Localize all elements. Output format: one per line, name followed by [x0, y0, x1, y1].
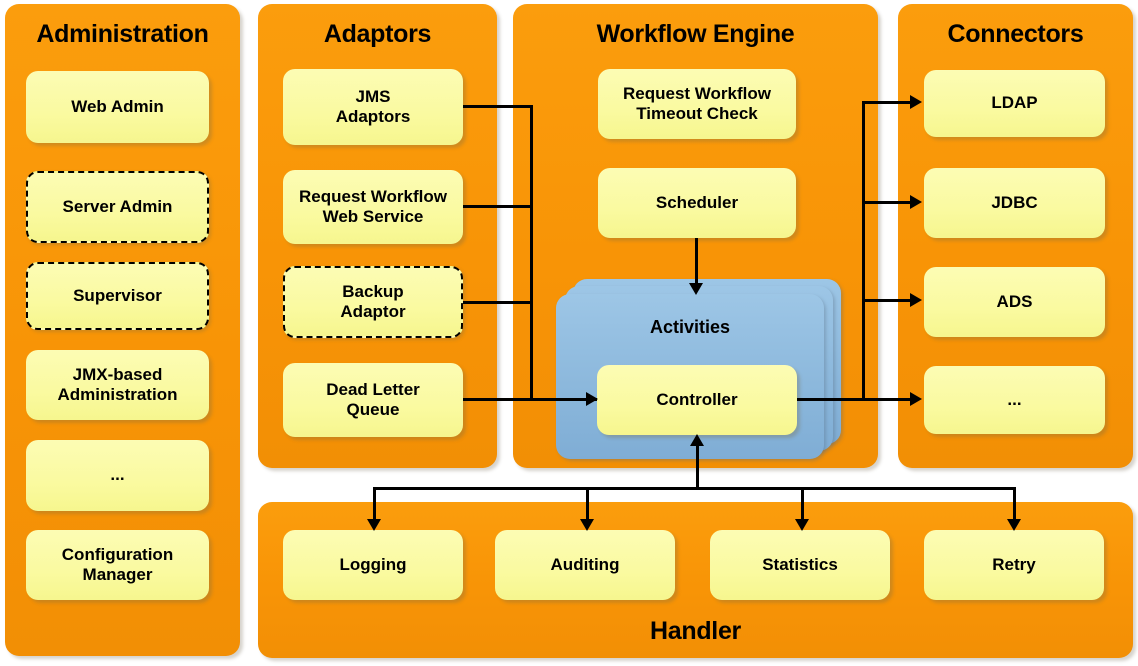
node-scheduler[interactable]: Scheduler: [598, 168, 796, 238]
wire-handler-bus-to-controller: [696, 443, 699, 489]
arrow-into-connectors-more: [910, 392, 922, 406]
node-label: Statistics: [762, 555, 838, 575]
panel-connectors-title: Connectors: [898, 20, 1133, 49]
wire-bus-to-statistics: [801, 487, 804, 522]
node-label: Backup Adaptor: [340, 282, 405, 322]
wire-bus-to-connectors-more: [862, 398, 912, 401]
node-request-workflow-web-service[interactable]: Request Workflow Web Service: [283, 170, 463, 244]
node-label: Supervisor: [73, 286, 162, 306]
wire-backup-to-bus: [463, 301, 533, 304]
wire-right-bus-vertical: [862, 101, 865, 399]
wire-bus-to-jdbc: [862, 201, 912, 204]
node-label: Scheduler: [656, 193, 738, 213]
panel-administration-title: Administration: [5, 20, 240, 49]
node-ads[interactable]: ADS: [924, 267, 1105, 337]
node-label: JMX-based Administration: [58, 365, 178, 405]
node-label: JMS Adaptors: [336, 87, 411, 127]
node-jdbc[interactable]: JDBC: [924, 168, 1105, 238]
node-label: JDBC: [991, 193, 1037, 213]
node-label: ...: [110, 465, 124, 485]
node-label: ...: [1007, 390, 1021, 410]
wire-bus-to-logging: [373, 487, 376, 522]
node-server-admin[interactable]: Server Admin: [26, 171, 209, 243]
node-connectors-more[interactable]: ...: [924, 366, 1105, 434]
wire-bus-to-auditing: [586, 487, 589, 522]
panel-adaptors-title: Adaptors: [258, 20, 497, 49]
node-statistics[interactable]: Statistics: [710, 530, 890, 600]
node-ldap[interactable]: LDAP: [924, 70, 1105, 137]
wire-rwws-to-bus: [463, 205, 533, 208]
node-dead-letter-queue[interactable]: Dead Letter Queue: [283, 363, 463, 437]
panel-workflow-engine-title: Workflow Engine: [513, 20, 878, 49]
node-retry[interactable]: Retry: [924, 530, 1104, 600]
activities-label: Activities: [556, 317, 824, 338]
wire-bus-to-retry: [1013, 487, 1016, 522]
node-controller[interactable]: Controller: [597, 365, 797, 435]
node-label: ADS: [997, 292, 1033, 312]
node-label: LDAP: [991, 93, 1037, 113]
node-supervisor[interactable]: Supervisor: [26, 262, 209, 330]
node-web-admin[interactable]: Web Admin: [26, 71, 209, 143]
wire-controller-to-right-bus: [797, 398, 865, 401]
node-label: Auditing: [551, 555, 620, 575]
arrow-into-controller-left: [586, 392, 598, 406]
architecture-diagram: Administration Web Admin Server Admin Su…: [0, 0, 1138, 666]
node-label: Logging: [339, 555, 406, 575]
node-label: Controller: [656, 390, 737, 410]
arrow-into-ads: [910, 293, 922, 307]
arrow-into-retry: [1007, 519, 1021, 531]
wire-handler-bus-horizontal: [373, 487, 1016, 490]
node-label: Web Admin: [71, 97, 164, 117]
node-label: Request Workflow Web Service: [299, 187, 447, 227]
node-label: Configuration Manager: [62, 545, 173, 585]
node-jmx-based-administration[interactable]: JMX-based Administration: [26, 350, 209, 420]
wire-bus-to-ldap: [862, 101, 912, 104]
panel-handler-title: Handler: [258, 617, 1133, 646]
arrow-into-ldap: [910, 95, 922, 109]
arrow-into-statistics: [795, 519, 809, 531]
node-label: Request Workflow Timeout Check: [623, 84, 771, 124]
wire-bus-to-ads: [862, 299, 912, 302]
wire-left-bus-vertical: [530, 105, 533, 399]
node-configuration-manager[interactable]: Configuration Manager: [26, 530, 209, 600]
node-administration-more[interactable]: ...: [26, 440, 209, 511]
node-logging[interactable]: Logging: [283, 530, 463, 600]
node-request-workflow-timeout-check[interactable]: Request Workflow Timeout Check: [598, 69, 796, 139]
node-label: Dead Letter Queue: [326, 380, 420, 420]
node-label: Server Admin: [63, 197, 173, 217]
node-backup-adaptor[interactable]: Backup Adaptor: [283, 266, 463, 338]
arrow-into-controller-bottom: [690, 434, 704, 446]
wire-jms-to-bus: [463, 105, 533, 108]
node-label: Retry: [992, 555, 1035, 575]
arrow-into-jdbc: [910, 195, 922, 209]
wire-dead-letter-queue-to-controller: [463, 398, 597, 401]
arrow-into-logging: [367, 519, 381, 531]
node-auditing[interactable]: Auditing: [495, 530, 675, 600]
arrow-into-auditing: [580, 519, 594, 531]
node-jms-adaptors[interactable]: JMS Adaptors: [283, 69, 463, 145]
arrow-into-activities-top: [689, 283, 703, 295]
wire-scheduler-to-activities: [695, 238, 698, 286]
